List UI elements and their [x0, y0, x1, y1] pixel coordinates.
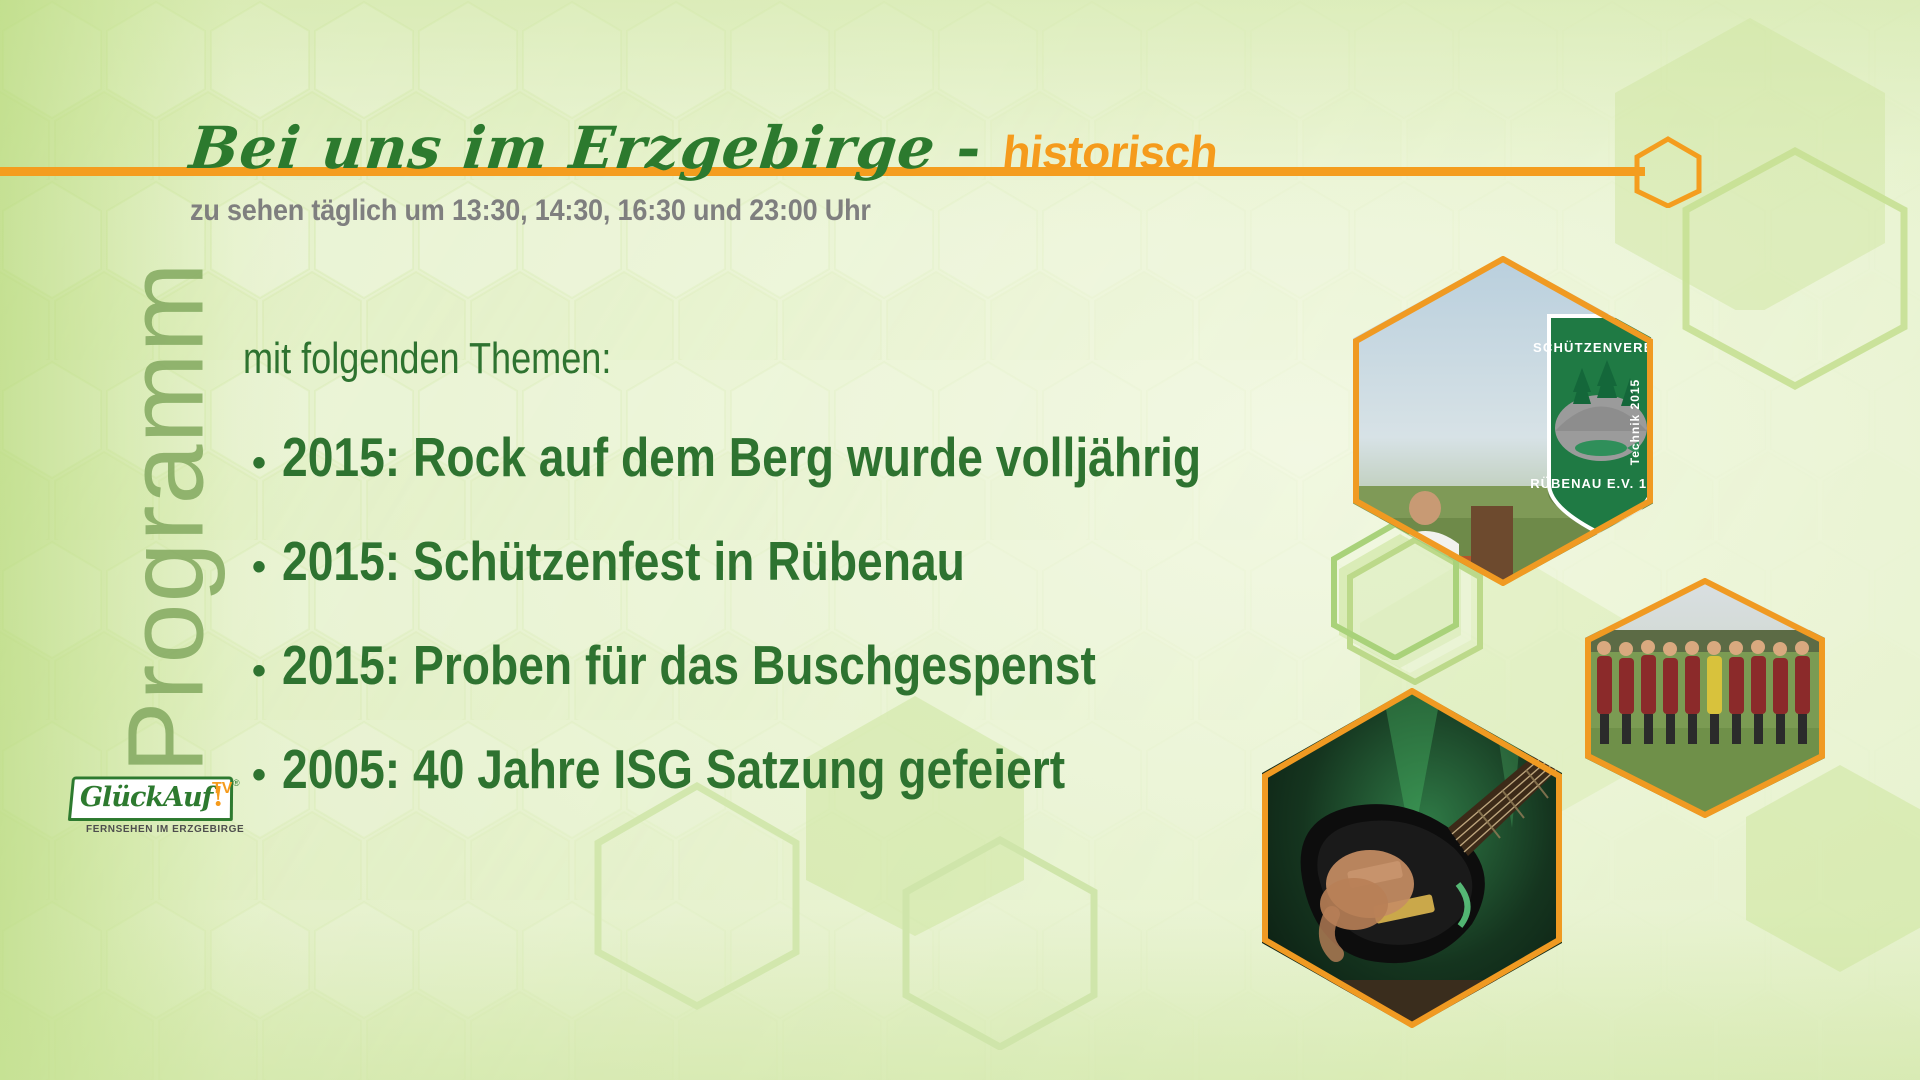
bullet-dot-icon: • — [252, 651, 282, 691]
bullet-dot-icon: • — [252, 755, 282, 795]
list-item-label: 2005: 40 Jahre ISG Satzung gefeiert — [282, 737, 1065, 801]
list-item-label: 2015: Schützenfest in Rübenau — [282, 529, 965, 593]
logo-tagline: FERNSEHEN IM ERZGEBIRGE — [86, 824, 244, 835]
svg-text:RÜBENAU E.V. 1976: RÜBENAU E.V. 1976 — [1530, 476, 1653, 491]
topics-intro: mit folgenden Themen: — [243, 334, 611, 384]
list-item: • 2005: 40 Jahre ISG Satzung gefeiert — [252, 737, 1376, 841]
list-item: • 2015: Schützenfest in Rübenau — [252, 529, 1376, 633]
photo-hex-guitar — [1262, 688, 1562, 1028]
logo-tv-text: TV — [212, 780, 232, 798]
svg-text:SCHÜTZENVEREIN: SCHÜTZENVEREIN — [1533, 340, 1653, 355]
topics-list: • 2015: Rock auf dem Berg wurde volljähr… — [252, 425, 1376, 841]
header-hex-accent — [1632, 136, 1704, 208]
photo-hex-schuetzenverein: SCHÜTZENVEREIN RÜBENAU E.V. 1976 Technik… — [1353, 256, 1653, 586]
list-item-label: 2015: Proben für das Buschgespenst — [282, 633, 1096, 697]
photo-hex-sports-team — [1585, 578, 1825, 818]
slide-canvas: Bei uns im Erzgebirge - historisch zu se… — [0, 0, 1920, 1080]
page-title-main: Bei uns im Erzgebirge — [186, 114, 939, 182]
bullet-dot-icon: • — [252, 547, 282, 587]
list-item-label: 2015: Rock auf dem Berg wurde volljährig — [282, 425, 1201, 489]
page-title: Bei uns im Erzgebirge - historisch — [186, 114, 1221, 182]
list-item: • 2015: Rock auf dem Berg wurde volljähr… — [252, 425, 1376, 529]
logo-wordmark: GlückAuf! — [80, 782, 223, 813]
page-title-dash: - — [953, 114, 985, 182]
bullet-dot-icon: • — [252, 443, 282, 483]
decorative-hex-outline-topright — [1680, 145, 1910, 390]
broadcast-times: zu sehen täglich um 13:30, 14:30, 16:30 … — [190, 194, 871, 228]
svg-text:Technik 2015: Technik 2015 — [1628, 379, 1642, 465]
list-item: • 2015: Proben für das Buschgespenst — [252, 633, 1376, 737]
page-title-accent: historisch — [1000, 126, 1220, 178]
logo-registered-mark: ® — [233, 778, 240, 788]
decorative-hex-outline-bottom — [900, 835, 1100, 1050]
section-label-programm: Programm — [103, 168, 228, 868]
channel-logo[interactable]: GlückAuf! TV ® FERNSEHEN IM ERZGEBIRGE — [70, 776, 255, 838]
